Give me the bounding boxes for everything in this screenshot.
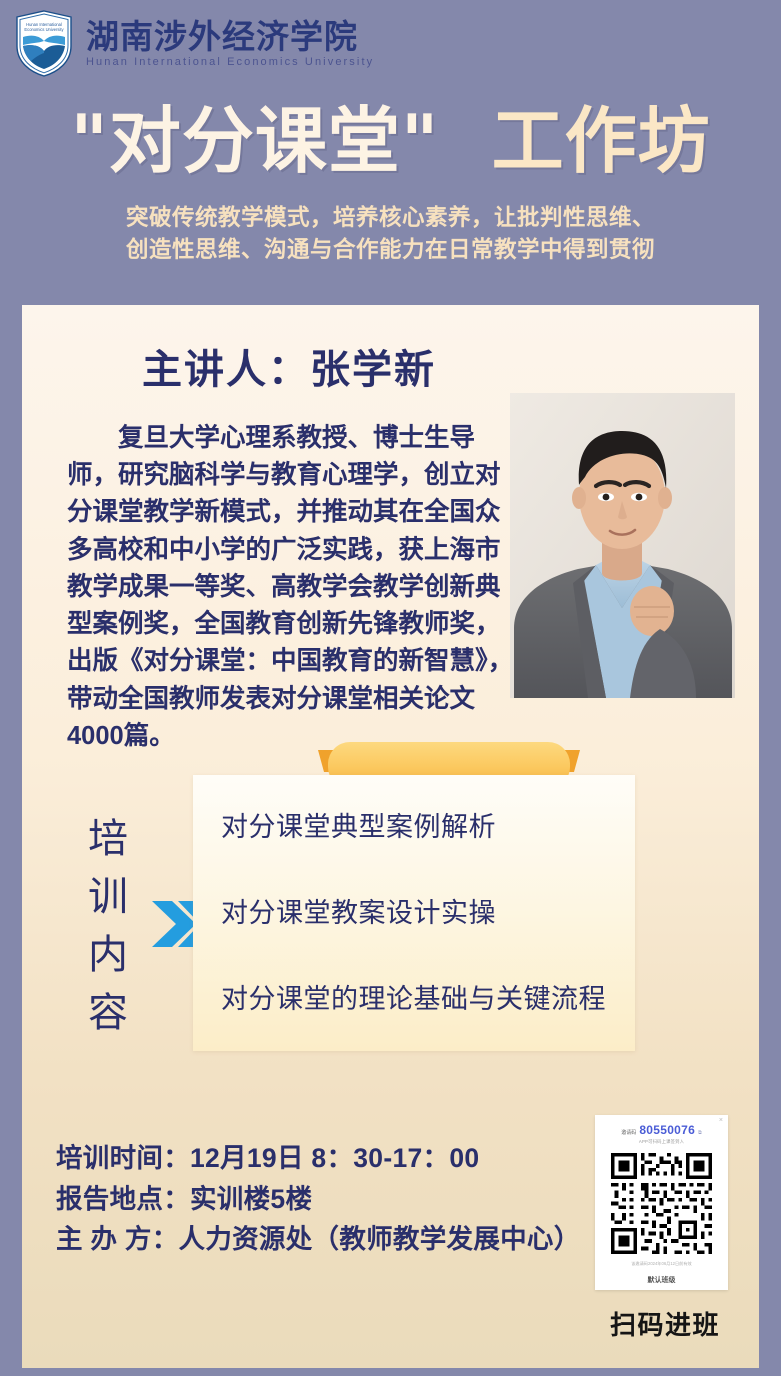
- training-content-panel: 对分课堂典型案例解析 对分课堂教案设计实操 对分课堂的理论基础与关键流程: [193, 775, 635, 1051]
- info-time: 培训时间：12月19日 8：30-17：00: [56, 1138, 581, 1179]
- event-info-block: 培训时间：12月19日 8：30-17：00 报告地点：实训楼5楼 主 办 方：…: [56, 1138, 581, 1260]
- poster-root: Hunan International Economics University…: [0, 0, 781, 1376]
- content-card: 主讲人：张学新 复旦大学心理系教授、博士生导师，研究脑科学与教育心理学，创立对分…: [22, 305, 759, 1368]
- speaker-bio: 复旦大学心理系教授、博士生导师，研究脑科学与教育心理学，创立对分课堂教学新模式，…: [67, 420, 519, 755]
- shield-book-logo-icon: Hunan International Economics University: [14, 10, 74, 78]
- training-item: 对分课堂的理论基础与关键流程: [221, 977, 635, 1016]
- subtitle-line-1: 突破传统教学模式，培养核心素养，让批判性思维、: [0, 202, 781, 235]
- qr-expire-note: 该邀请码2024年06月12日前有效: [595, 1261, 728, 1267]
- training-item: 对分课堂教案设计实操: [221, 891, 635, 930]
- main-title-plain: 工作坊: [492, 99, 711, 183]
- info-organizer: 主 办 方：人力资源处（教师教学发展中心）: [56, 1219, 581, 1260]
- university-name-cn: 湖南涉外经济学院: [86, 20, 374, 53]
- subtitle-line-2: 创造性思维、沟通与合作能力在日常教学中得到贯彻: [0, 234, 781, 267]
- university-name-block: 湖南涉外经济学院 Hunan International Economics U…: [86, 20, 374, 68]
- qr-invite-row: 邀请码 80550076 ⧉: [595, 1115, 728, 1137]
- university-name-en: Hunan International Economics University: [86, 57, 374, 68]
- title-block: "对分课堂" 工作坊 突破传统教学模式，培养核心素养，让批判性思维、 创造性思维…: [0, 104, 781, 267]
- close-icon[interactable]: ×: [719, 1117, 723, 1124]
- university-logo-bar: Hunan International Economics University…: [14, 10, 374, 78]
- training-label-char-1: 训: [78, 868, 138, 926]
- portrait-image: [510, 393, 735, 698]
- main-title: "对分课堂" 工作坊: [0, 104, 781, 180]
- info-location: 报告地点：实训楼5楼: [56, 1179, 581, 1220]
- qr-code-image[interactable]: [607, 1149, 716, 1258]
- training-item: 对分课堂典型案例解析: [221, 805, 635, 844]
- copy-icon[interactable]: ⧉: [698, 1130, 702, 1136]
- qr-invite-label: 邀请码: [621, 1129, 636, 1136]
- speaker-heading: 主讲人：张学新: [142, 337, 436, 395]
- subtitle-block: 突破传统教学模式，培养核心素养，让批判性思维、 创造性思维、沟通与合作能力在日常…: [0, 202, 781, 267]
- main-title-quoted: "对分课堂": [70, 99, 439, 183]
- training-label-char-0: 培: [78, 810, 138, 868]
- qr-sub-note: APP可扫码上课签到入: [595, 1139, 728, 1145]
- training-label-char-2: 内: [78, 926, 138, 984]
- svg-text:Economics University: Economics University: [24, 27, 64, 32]
- qr-card[interactable]: × 邀请码 80550076 ⧉ APP可扫码上课签到入: [595, 1115, 728, 1290]
- training-item-list: 对分课堂典型案例解析 对分课堂教案设计实操 对分课堂的理论基础与关键流程: [193, 775, 635, 1051]
- qr-invite-code: 80550076: [639, 1123, 695, 1137]
- speaker-portrait: [510, 393, 735, 698]
- training-label: 培 训 内 容: [78, 810, 138, 1042]
- qr-caption: 扫码进班: [595, 1305, 735, 1342]
- training-label-char-3: 容: [78, 984, 138, 1042]
- qr-default-label: 默认班级: [595, 1275, 728, 1285]
